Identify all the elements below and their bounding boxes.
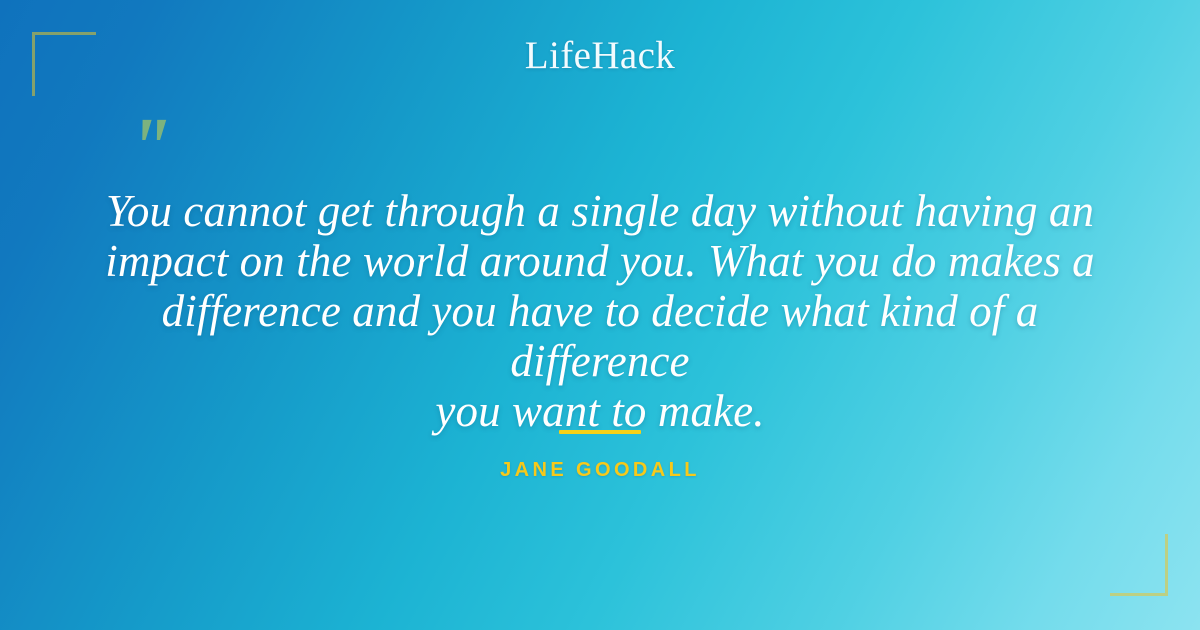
lifehack-logo[interactable]: LifeHack	[525, 36, 675, 75]
attribution-block: JANE GOODALL	[0, 430, 1200, 481]
attribution-author: JANE GOODALL	[500, 460, 700, 480]
opening-quote-icon: "	[128, 104, 171, 190]
quote-text: You cannot get through a single day with…	[90, 186, 1110, 436]
quote-card: LifeHack " You cannot get through a sing…	[0, 0, 1200, 630]
brand-header: LifeHack	[0, 36, 1200, 75]
corner-bracket-bottom-right-icon	[1110, 534, 1168, 596]
quote-body: You cannot get through a single day with…	[90, 186, 1110, 436]
attribution-divider	[559, 430, 641, 434]
